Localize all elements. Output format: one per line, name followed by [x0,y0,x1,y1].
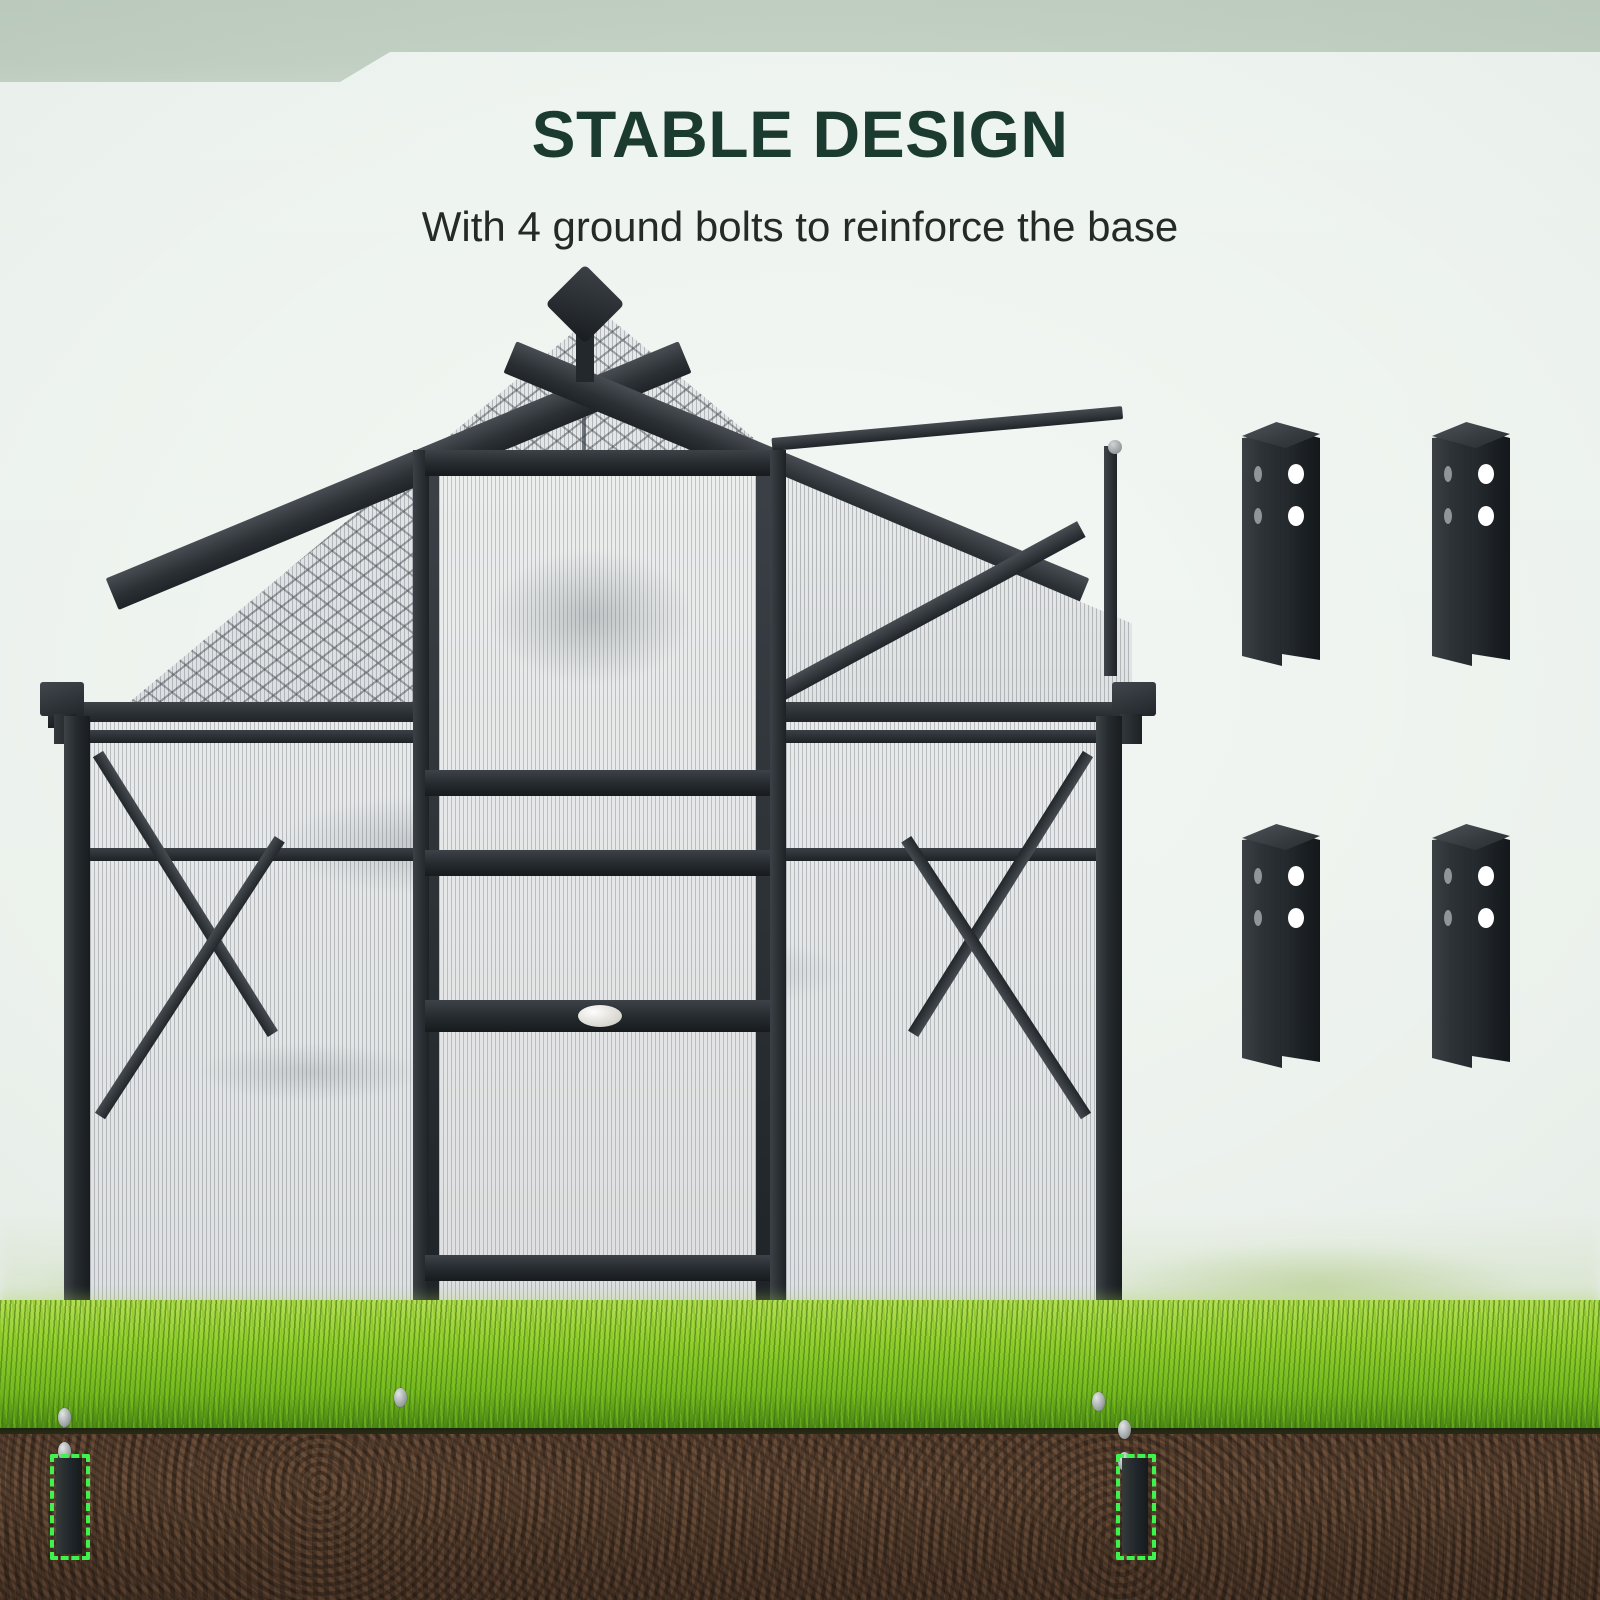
base-screw [58,1408,71,1427]
base-screw [394,1388,407,1407]
ground-bolt-hole-icon [1478,506,1494,526]
door-rail-middle [425,850,770,876]
ground-bolt-hole-icon [1254,868,1262,884]
ground-bolt-hole-icon [1288,464,1304,484]
subheadline: With 4 ground bolts to reinforce the bas… [0,203,1600,251]
door-rail-lower [425,1255,770,1281]
product-feature-image: STABLE DESIGN With 4 ground bolts to rei… [0,0,1600,1600]
door-glazing-reflection [450,485,745,815]
ground-bolt-front-face [1242,836,1282,1068]
ground-bolt-hole-icon [1478,464,1494,484]
ground-bolt-hole-icon [1444,508,1452,524]
wall-rail-upper-left [90,730,425,743]
ground-bolt-side-face [1282,428,1320,660]
ground-bolt-hole-icon [1254,910,1262,926]
ground-bolt-front-face [1432,434,1472,666]
roof-vent-side-arm [1104,446,1117,676]
base-screw [1118,1420,1131,1439]
ground-bolt-side-face [1472,830,1510,1062]
door-brand-badge [578,1005,622,1027]
ground-bolt-hole-icon [1478,908,1494,928]
roof-vent-pivot-icon [1108,440,1122,454]
eave-corner-foot-right [1120,714,1142,744]
ground-bolt-front-face [1432,836,1472,1068]
greenhouse-illustration [30,270,1160,1430]
grass-layer [0,1300,1600,1435]
ground-bolt-bottom-right [1432,820,1510,1068]
soil-cross-section [0,1434,1600,1600]
door-rail-top [425,450,770,476]
ground-bolt-hole-icon [1288,908,1304,928]
ground-bolt-top-left [1242,418,1320,666]
ground-bolt-side-face [1472,428,1510,660]
buried-anchor-highlight-left [50,1454,90,1560]
ground-bolt-front-face [1242,434,1282,666]
base-screw [1092,1392,1105,1411]
wall-rail-mid-right [770,848,1096,861]
eave-corner-cap-left [40,682,84,716]
wall-rail-upper-right [770,730,1096,743]
ground-bolt-hole-icon [1478,866,1494,886]
ground-bolt-bottom-left [1242,820,1320,1068]
ground-bolt-top-right [1432,418,1510,666]
wall-rail-mid-left [90,848,425,861]
door-rail-upper [425,770,770,796]
ground-bolt-hole-icon [1254,466,1262,482]
ground-bolt-hole-icon [1288,506,1304,526]
door-jamb-right [770,450,786,1388]
roof-vent-support-arm [771,406,1123,451]
ground-bolt-hole-icon [1444,868,1452,884]
ground-bolt-hole-icon [1288,866,1304,886]
door-jamb-left [413,450,429,1388]
eave-corner-cap-right [1112,682,1156,716]
buried-anchor-highlight-right [1116,1454,1156,1560]
ground-bolt-side-face [1282,830,1320,1062]
ground-bolt-hole-icon [1444,910,1452,926]
headline: STABLE DESIGN [0,96,1600,172]
ground-bolt-hole-icon [1254,508,1262,524]
ground-bolt-hole-icon [1444,466,1452,482]
